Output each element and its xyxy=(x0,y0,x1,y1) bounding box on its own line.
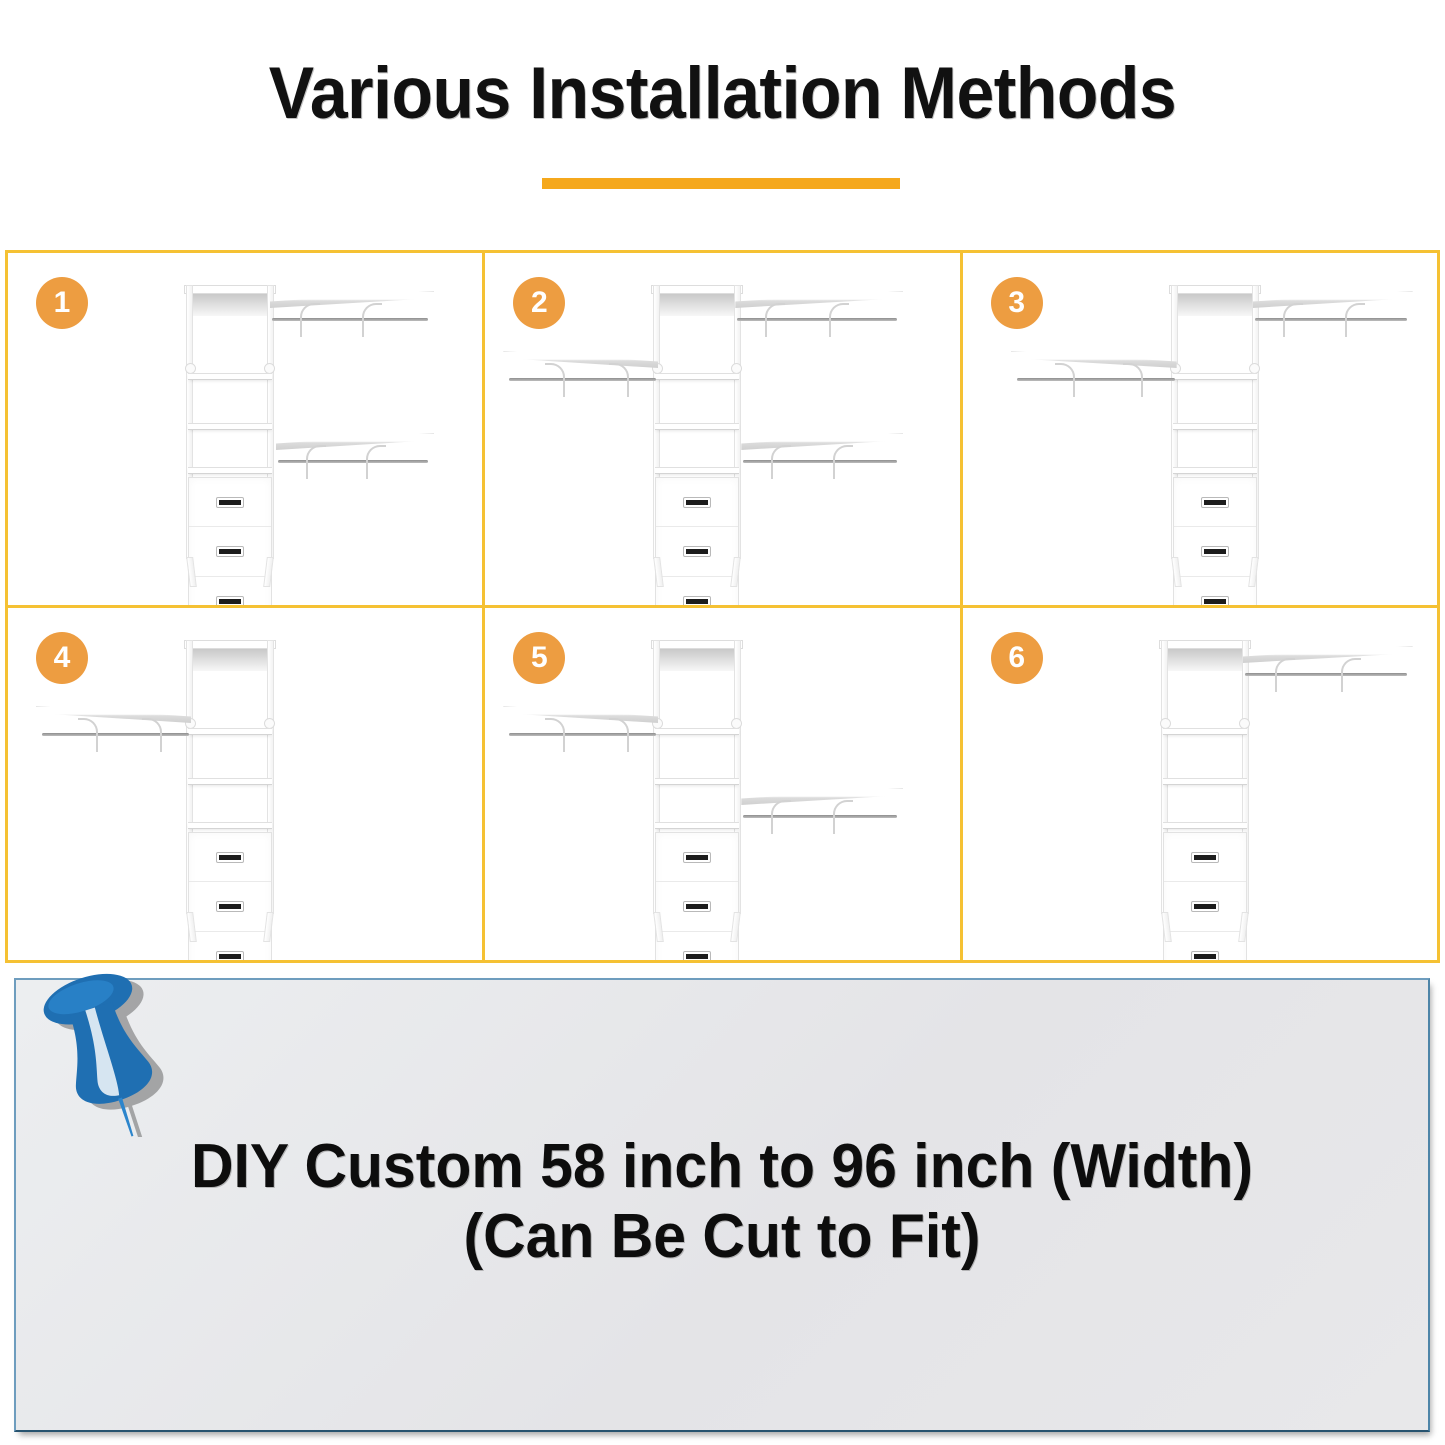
step-badge-2: 2 xyxy=(513,277,565,329)
shelf-bracket xyxy=(609,363,629,397)
drawer-handle[interactable] xyxy=(1192,902,1218,911)
drawer-handle[interactable] xyxy=(684,902,710,911)
shelf-board xyxy=(741,788,903,805)
tower-shelf xyxy=(188,467,272,474)
tower-shelf xyxy=(1163,778,1247,785)
drawer[interactable] xyxy=(656,478,738,527)
tower-top-shadow xyxy=(1164,649,1246,671)
tower-top-shadow xyxy=(189,649,271,671)
hanging-rod xyxy=(1017,378,1175,381)
tower-shelf xyxy=(188,822,272,829)
closet-tower xyxy=(186,640,274,942)
installation-method-cell-1[interactable]: 1 xyxy=(8,253,485,608)
drawer-handle[interactable] xyxy=(217,498,243,507)
tower-shelf xyxy=(188,423,272,430)
tower-top-shelf xyxy=(184,285,276,294)
drawer-handle[interactable] xyxy=(217,902,243,911)
banner-line-2: (Can Be Cut to Fit) xyxy=(51,1202,1392,1272)
tower-top-shadow xyxy=(189,294,271,316)
tower-top-shelf xyxy=(651,640,743,649)
tower-shelf xyxy=(655,822,739,829)
tower-top-shadow xyxy=(1174,294,1256,316)
drawer[interactable] xyxy=(1164,882,1246,931)
shelf-bracket xyxy=(545,718,565,752)
shelf-bracket xyxy=(142,718,162,752)
drawer-stack xyxy=(1163,832,1247,963)
banner-message: DIY Custom 58 inch to 96 inch (Width) (C… xyxy=(51,1132,1392,1272)
shelf-bracket xyxy=(78,718,98,752)
drawer[interactable] xyxy=(656,932,738,963)
tower-top-shelf xyxy=(1159,640,1251,649)
shelf-bracket xyxy=(362,303,382,337)
hanging-rod xyxy=(278,460,428,463)
tower-shelf xyxy=(188,728,272,735)
hanging-shelf-right-lower xyxy=(276,433,434,479)
shelf-bracket xyxy=(833,445,853,479)
drawer[interactable] xyxy=(1164,833,1246,882)
shelf-bracket xyxy=(829,303,849,337)
tower-shelf xyxy=(1163,822,1247,829)
installation-method-cell-2[interactable]: 2 xyxy=(485,253,962,608)
drawer-handle[interactable] xyxy=(217,952,243,961)
hanging-rod xyxy=(743,815,897,818)
shelf-board xyxy=(270,291,434,308)
hanging-shelf-left-middle xyxy=(503,351,658,397)
hanging-rod xyxy=(743,460,897,463)
drawer[interactable] xyxy=(1174,527,1256,576)
installation-method-cell-5[interactable]: 5 xyxy=(485,608,962,963)
installation-methods-grid: 1 xyxy=(5,250,1440,963)
tower-top-shelf xyxy=(1169,285,1261,294)
drawer[interactable] xyxy=(189,527,271,576)
shelf-board xyxy=(276,433,434,450)
drawer-handle[interactable] xyxy=(217,547,243,556)
drawer[interactable] xyxy=(1174,577,1256,608)
drawer[interactable] xyxy=(189,833,271,882)
tower-shelf xyxy=(655,373,739,380)
drawer-handle[interactable] xyxy=(684,853,710,862)
drawer-handle[interactable] xyxy=(1202,498,1228,507)
drawer[interactable] xyxy=(189,932,271,963)
tower-shelf xyxy=(655,778,739,785)
hanging-rod xyxy=(509,378,656,381)
shelf-bracket xyxy=(1341,658,1361,692)
drawer[interactable] xyxy=(1174,478,1256,527)
drawer[interactable] xyxy=(656,527,738,576)
drawer[interactable] xyxy=(189,882,271,931)
shelf-bracket xyxy=(609,718,629,752)
drawer-stack xyxy=(655,832,739,963)
hanging-shelf-left-middle xyxy=(36,706,191,752)
hanging-shelf-right-upper xyxy=(270,291,434,337)
drawer-handle[interactable] xyxy=(1192,853,1218,862)
drawer-stack xyxy=(1173,477,1257,608)
shelf-bracket xyxy=(366,445,386,479)
step-badge-6: 6 xyxy=(991,632,1043,684)
shelf-board xyxy=(1243,646,1413,663)
shelf-board xyxy=(36,706,191,723)
shelf-bracket xyxy=(833,800,853,834)
closet-tower xyxy=(186,285,274,587)
shelf-bracket xyxy=(1055,363,1075,397)
hanging-shelf-right-upper xyxy=(1253,291,1413,337)
closet-tower xyxy=(653,640,741,942)
tower-top-shelf xyxy=(651,285,743,294)
shelf-board xyxy=(741,433,903,450)
tower-shelf xyxy=(1173,373,1257,380)
hanging-rod xyxy=(1245,673,1407,676)
hanging-shelf-left-middle xyxy=(503,706,658,752)
drawer-stack xyxy=(188,832,272,963)
hanging-shelf-right-lower xyxy=(741,788,903,834)
shelf-bracket xyxy=(300,303,320,337)
closet-tower xyxy=(1171,285,1259,587)
shelf-bracket xyxy=(771,800,791,834)
tower-shelf xyxy=(655,728,739,735)
hanging-rod xyxy=(272,318,428,321)
shelf-bracket xyxy=(545,363,565,397)
drawer-handle[interactable] xyxy=(217,853,243,862)
tower-top-shelf xyxy=(184,640,276,649)
step-badge-3: 3 xyxy=(991,277,1043,329)
drawer[interactable] xyxy=(1164,932,1246,963)
banner-line-1: DIY Custom 58 inch to 96 inch (Width) xyxy=(51,1132,1392,1202)
title-underline-bar xyxy=(542,178,900,189)
page-header: Various Installation Methods xyxy=(0,56,1445,133)
hanging-shelf-right-upper xyxy=(735,291,903,337)
pushpin-icon xyxy=(30,962,180,1137)
tower-top-shadow xyxy=(656,294,738,316)
shelf-bracket xyxy=(765,303,785,337)
installation-method-cell-6[interactable]: 6 xyxy=(963,608,1440,963)
hanging-rod xyxy=(1255,318,1407,321)
shelf-bracket xyxy=(1123,363,1143,397)
shelf-bracket xyxy=(1345,303,1365,337)
shelf-board xyxy=(735,291,903,308)
shelf-board xyxy=(503,351,658,368)
tower-shelf xyxy=(1163,728,1247,735)
hanging-rod xyxy=(737,318,897,321)
shelf-board xyxy=(503,706,658,723)
shelf-board xyxy=(1253,291,1413,308)
shelf-bracket xyxy=(771,445,791,479)
closet-tower xyxy=(1161,640,1249,942)
shelf-bracket xyxy=(1283,303,1303,337)
drawer-handle[interactable] xyxy=(217,597,243,606)
drawer[interactable] xyxy=(189,577,271,608)
step-badge-1: 1 xyxy=(36,277,88,329)
drawer-handle[interactable] xyxy=(684,952,710,961)
tower-shelf xyxy=(655,467,739,474)
drawer-handle[interactable] xyxy=(684,547,710,556)
tower-top-shadow xyxy=(656,649,738,671)
closet-tower xyxy=(653,285,741,587)
shelf-bracket xyxy=(306,445,326,479)
hanging-shelf-left-middle xyxy=(1011,351,1177,397)
drawer-handle[interactable] xyxy=(1202,597,1228,606)
hanging-rod xyxy=(42,733,189,736)
tower-shelf xyxy=(1173,423,1257,430)
drawer-stack xyxy=(655,477,739,608)
drawer[interactable] xyxy=(656,833,738,882)
installation-method-cell-3[interactable]: 3 xyxy=(963,253,1440,608)
drawer[interactable] xyxy=(189,478,271,527)
drawer-handle[interactable] xyxy=(1202,547,1228,556)
tower-shelf xyxy=(655,423,739,430)
shelf-bracket xyxy=(1275,658,1295,692)
diy-custom-banner: DIY Custom 58 inch to 96 inch (Width) (C… xyxy=(14,978,1430,1432)
shelf-board xyxy=(1011,351,1177,368)
drawer[interactable] xyxy=(656,882,738,931)
tower-shelf xyxy=(1173,467,1257,474)
drawer[interactable] xyxy=(656,577,738,608)
drawer-handle[interactable] xyxy=(684,498,710,507)
infographic-page: Various Installation Methods 1 xyxy=(0,0,1445,1445)
hanging-shelf-right-lower xyxy=(741,433,903,479)
drawer-stack xyxy=(188,477,272,608)
hanging-rod xyxy=(509,733,656,736)
hanging-shelf-right-upper xyxy=(1243,646,1413,692)
step-badge-5: 5 xyxy=(513,632,565,684)
page-title: Various Installation Methods xyxy=(51,56,1395,133)
drawer-handle[interactable] xyxy=(684,597,710,606)
installation-method-cell-4[interactable]: 4 xyxy=(8,608,485,963)
tower-shelf xyxy=(188,373,272,380)
drawer-handle[interactable] xyxy=(1192,952,1218,961)
step-badge-4: 4 xyxy=(36,632,88,684)
tower-shelf xyxy=(188,778,272,785)
